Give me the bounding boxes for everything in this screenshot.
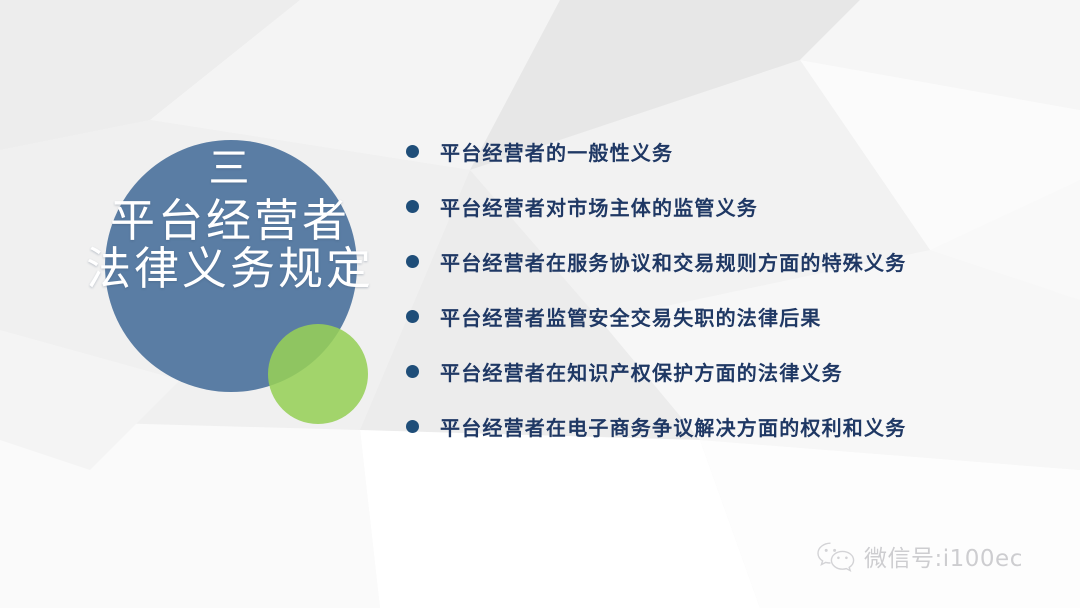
- green-circle-shape: [268, 324, 368, 424]
- list-item: 平台经营者在电子商务争议解决方面的权利和义务: [406, 399, 1036, 454]
- bullet-dot-icon: [406, 255, 419, 268]
- bullet-dot-icon: [406, 200, 419, 213]
- list-item: 平台经营者对市场主体的监管义务: [406, 179, 1036, 234]
- list-item: 平台经营者监管安全交易失职的法律后果: [406, 289, 1036, 344]
- wechat-icon: [815, 540, 857, 572]
- list-item: 平台经营者的一般性义务: [406, 124, 1036, 179]
- list-item-label: 平台经营者在知识产权保护方面的法律义务: [440, 357, 843, 386]
- list-item: 平台经营者在知识产权保护方面的法律义务: [406, 344, 1036, 399]
- bullet-dot-icon: [406, 420, 419, 433]
- list-item-label: 平台经营者在电子商务争议解决方面的权利和义务: [440, 412, 906, 441]
- presentation-slide: 三 平台经营者 法律义务规定 平台经营者的一般性义务 平台经营者对市场主体的监管…: [0, 0, 1080, 608]
- list-item: 平台经营者在服务协议和交易规则方面的特殊义务: [406, 234, 1036, 289]
- list-item-label: 平台经营者对市场主体的监管义务: [440, 192, 758, 221]
- watermark-label: 微信号:i100ec: [864, 539, 1023, 573]
- wechat-watermark: 微信号:i100ec: [815, 539, 1023, 573]
- list-item-label: 平台经营者监管安全交易失职的法律后果: [440, 302, 822, 331]
- bullet-list: 平台经营者的一般性义务 平台经营者对市场主体的监管义务 平台经营者在服务协议和交…: [406, 124, 1036, 454]
- bullet-dot-icon: [406, 365, 419, 378]
- list-item-label: 平台经营者的一般性义务: [440, 137, 673, 166]
- list-item-label: 平台经营者在服务协议和交易规则方面的特殊义务: [440, 247, 906, 276]
- bullet-dot-icon: [406, 145, 419, 158]
- bullet-dot-icon: [406, 310, 419, 323]
